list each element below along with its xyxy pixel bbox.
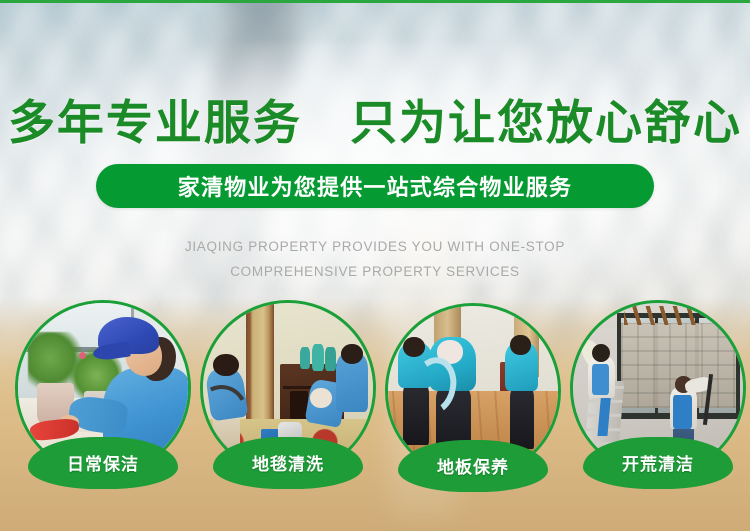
service-label-daily-cleaning: 日常保洁 — [67, 450, 139, 477]
service-item-carpet-washing[interactable]: 地毯清洗 — [200, 300, 376, 476]
service-item-post-construction-cleaning[interactable]: 开荒清洁 — [570, 300, 746, 476]
service-label-band-floor-maintenance: 地板保养 — [398, 440, 548, 492]
subtitle-pill-text: 家清物业为您提供一站式综合物业服务 — [178, 170, 572, 202]
english-subtitle-line-1: JIAQING PROPERTY PROVIDES YOU WITH ONE-S… — [0, 234, 750, 259]
headline-part-1: 多年专业服务 — [8, 96, 302, 149]
subtitle-pill: 家清物业为您提供一站式综合物业服务 — [96, 164, 654, 208]
service-label-band-daily-cleaning: 日常保洁 — [28, 437, 178, 489]
service-item-floor-maintenance[interactable]: 地板保养 — [385, 303, 561, 479]
service-label-band-carpet-washing: 地毯清洗 — [213, 437, 363, 489]
headline-part-2: 只为让您放心舒心 — [350, 96, 742, 149]
service-label-band-post-construction-cleaning: 开荒清洁 — [583, 437, 733, 489]
service-label-post-construction-cleaning: 开荒清洁 — [622, 450, 694, 477]
service-label-floor-maintenance: 地板保养 — [437, 453, 509, 480]
headline: 多年专业服务 只为让您放心舒心 — [0, 84, 750, 153]
service-item-daily-cleaning[interactable]: 日常保洁 — [15, 300, 191, 476]
service-label-carpet-washing: 地毯清洗 — [252, 450, 324, 477]
english-subtitle-line-2: COMPREHENSIVE PROPERTY SERVICES — [0, 259, 750, 284]
promo-banner: 多年专业服务 只为让您放心舒心 家清物业为您提供一站式综合物业服务 JIAQIN… — [0, 0, 750, 531]
english-subtitle: JIAQING PROPERTY PROVIDES YOU WITH ONE-S… — [0, 234, 750, 284]
top-accent-rule — [0, 0, 750, 3]
